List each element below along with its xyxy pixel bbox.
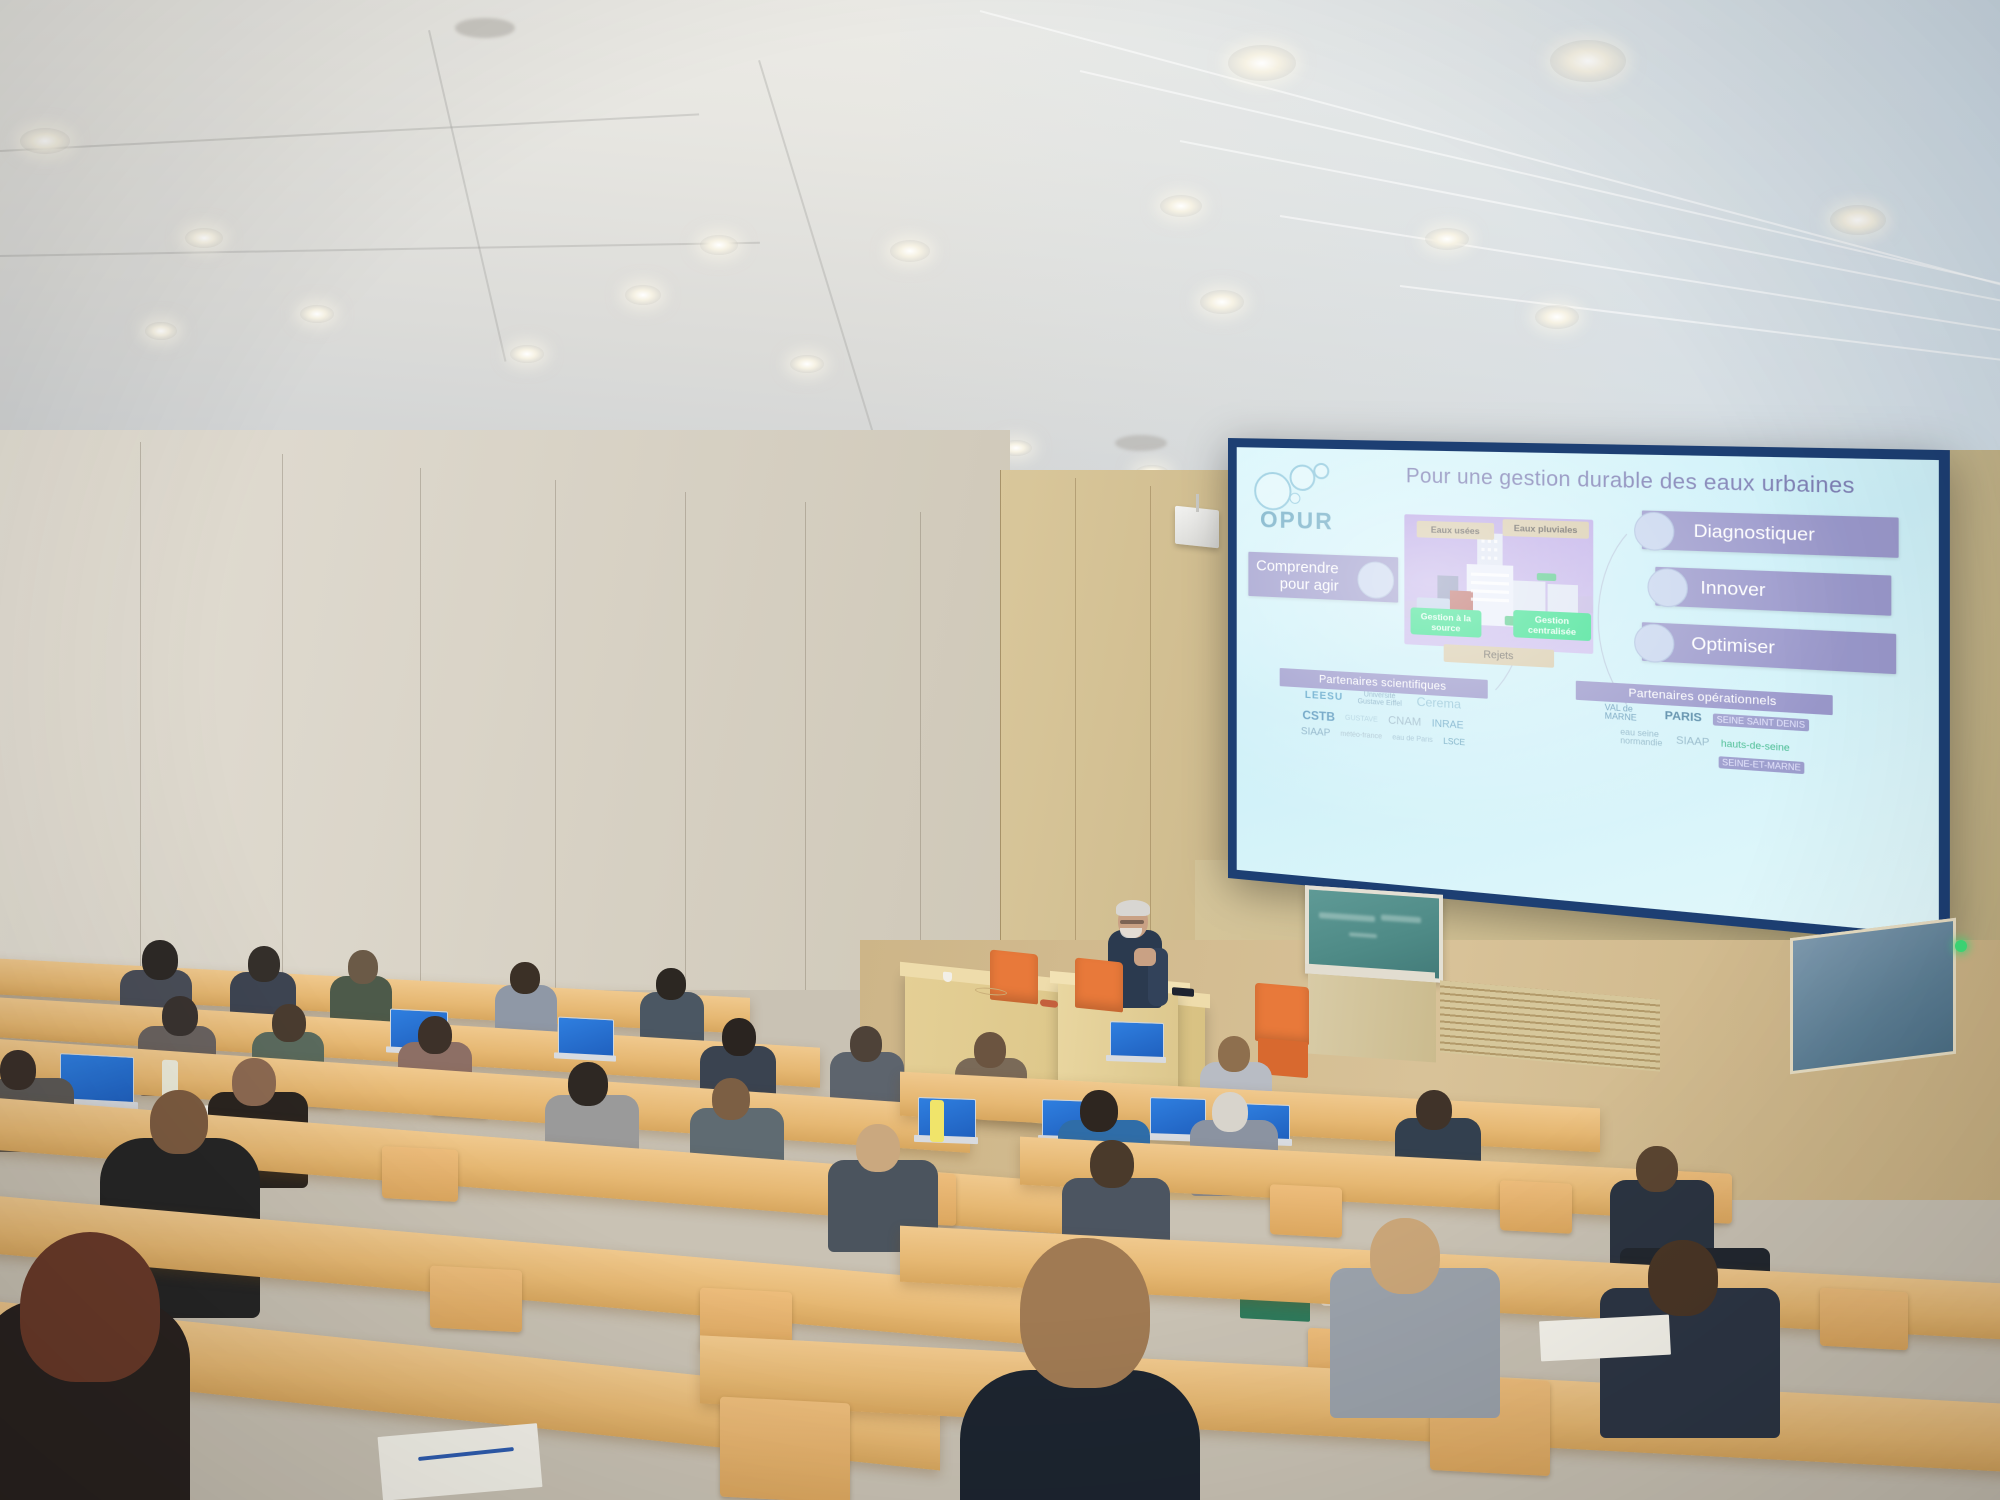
ceiling-downlight xyxy=(1425,228,1469,250)
stage-chair[interactable] xyxy=(1255,983,1309,1046)
display-panel-surface xyxy=(1793,921,1953,1071)
node-circle-icon xyxy=(1647,568,1687,608)
logo-cnam: CNAM xyxy=(1388,714,1421,729)
ceiling-downlight xyxy=(1228,45,1296,81)
ceiling-downlight xyxy=(185,228,223,248)
cup-on-desk xyxy=(943,972,952,983)
projection-screen: OPUR Pour une gestion durable des eaux u… xyxy=(1237,447,1939,935)
ceiling-vent xyxy=(455,18,515,38)
diagram-label-gestion-source: Gestion à la source xyxy=(1411,607,1482,637)
wall-display-panel xyxy=(1790,918,1956,1074)
ceiling-downlight xyxy=(890,240,930,262)
ceiling-downlight xyxy=(300,305,334,323)
diagram-label-eaux-pluviales: Eaux pluviales xyxy=(1503,519,1589,539)
stage-chair[interactable] xyxy=(1075,957,1123,1012)
logo-siaap-op: SIAAP xyxy=(1676,734,1709,748)
audience-chair[interactable] xyxy=(430,1266,522,1333)
wall-seam xyxy=(1000,470,1001,1000)
audience-chair[interactable] xyxy=(1270,1184,1342,1238)
comprendre-line2: pour agir xyxy=(1256,574,1339,595)
ceiling-downlight xyxy=(1830,205,1886,235)
bubble-icon xyxy=(1290,493,1301,504)
logo-cstb: CSTB xyxy=(1302,708,1335,724)
lecture-hall-photo: OPUR Pour une gestion durable des eaux u… xyxy=(0,0,2000,1500)
presentation-slide: OPUR Pour une gestion durable des eaux u… xyxy=(1237,447,1939,935)
logo-cerema: Cerema xyxy=(1417,694,1461,711)
ceiling-downlight xyxy=(1535,305,1579,329)
ceiling-seam xyxy=(0,242,760,257)
innover-label: Innover xyxy=(1700,577,1765,601)
bubble-icon xyxy=(1313,463,1329,480)
water-bottle xyxy=(930,1100,944,1142)
opur-wordmark: OPUR xyxy=(1260,506,1334,536)
logo-gustave: GUSTAVE xyxy=(1345,714,1378,723)
logo-eau-de-paris: eau de Paris xyxy=(1392,734,1433,744)
logo-hauts-de-seine: hauts-de-seine xyxy=(1721,738,1790,753)
status-led-icon xyxy=(1955,940,1967,952)
diagram-label-gestion-centralisee: Gestion centralisée xyxy=(1513,610,1591,641)
presenter-hair xyxy=(1116,900,1150,916)
diagnostiquer-label: Diagnostiquer xyxy=(1694,521,1815,547)
ceiling-downlight xyxy=(145,322,177,340)
optimiser-label: Optimiser xyxy=(1691,633,1775,659)
audience-chair[interactable] xyxy=(720,1397,850,1500)
wall-seam xyxy=(1075,478,1076,1008)
comprendre-line1: Comprendre xyxy=(1256,557,1339,577)
ceiling-downlight xyxy=(700,235,738,255)
audience-chair[interactable] xyxy=(382,1146,458,1202)
audience-chair[interactable] xyxy=(1500,1180,1572,1234)
ceiling-seam xyxy=(0,113,699,152)
presenter-hand xyxy=(1134,948,1156,966)
logo-val-de-marne: VAL de MARNE xyxy=(1605,704,1654,724)
logo-seine-saint-denis: SEINE SAINT DENIS xyxy=(1713,713,1808,731)
papers-on-desk xyxy=(1539,1315,1671,1362)
ceiling-downlight xyxy=(625,285,661,305)
chalkboard-base-panel xyxy=(1308,974,1436,1063)
ceiling-downlight xyxy=(20,128,70,154)
bubble-icon xyxy=(1290,464,1316,491)
ceiling-downlight xyxy=(1160,195,1202,217)
opur-logo: OPUR xyxy=(1250,461,1339,536)
logo-siaap: SIAAP xyxy=(1301,726,1330,739)
slide-title: Pour une gestion durable des eaux urbain… xyxy=(1355,464,1914,501)
logo-seine-et-marne: SEINE-ET-MARNE xyxy=(1719,756,1805,774)
diagram-label-eaux-usees: Eaux usées xyxy=(1417,521,1494,540)
logo-meteo-france: météo-france xyxy=(1340,731,1382,741)
left-wall-panels xyxy=(0,430,1010,990)
ceiling-speaker xyxy=(1175,506,1219,549)
ceiling-downlight xyxy=(1550,40,1626,82)
audience-chair[interactable] xyxy=(1820,1288,1908,1351)
projection-screen-frame: OPUR Pour une gestion durable des eaux u… xyxy=(1228,438,1950,947)
logo-leesu: LEESU xyxy=(1305,689,1343,703)
ceiling-vent xyxy=(1115,435,1167,451)
logo-eau-seine-normandie: eau seine normandie xyxy=(1620,728,1665,748)
notepad xyxy=(378,1423,543,1500)
presenter-glasses xyxy=(1120,920,1144,924)
logo-univ-gustave-eiffel: Université Gustave Eiffel xyxy=(1353,691,1406,709)
ceiling-seam xyxy=(428,30,506,362)
ceiling-downlight xyxy=(510,345,544,363)
ceiling xyxy=(0,0,2000,470)
stage-chair[interactable] xyxy=(990,949,1038,1004)
logo-paris: PARIS xyxy=(1665,709,1702,724)
speaker-mount xyxy=(1196,494,1199,512)
logo-inrae: INRAE xyxy=(1432,718,1464,732)
ceiling-downlight xyxy=(1200,290,1244,314)
node-circle-icon xyxy=(1357,561,1394,599)
node-circle-icon xyxy=(1634,511,1674,551)
logo-lsce: LSCE xyxy=(1443,737,1465,748)
ceiling-downlight xyxy=(790,355,824,373)
